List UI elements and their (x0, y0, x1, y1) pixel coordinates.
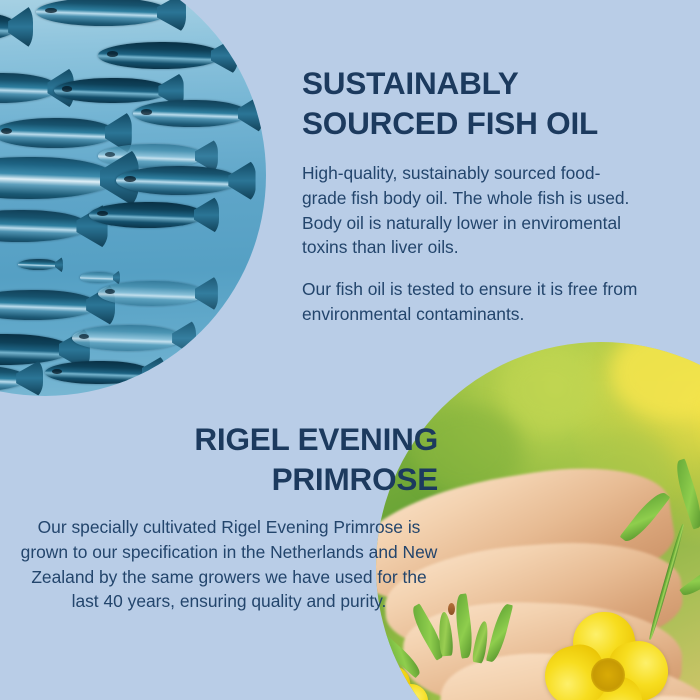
fish-oil-paragraph-1: High-quality, sustainably sourced food-g… (302, 161, 640, 260)
fish-shape (0, 118, 116, 148)
evening-primrose-text-block: RIGEL EVENINGPRIMROSE Our specially cult… (20, 420, 438, 614)
evening-primrose-flower (543, 612, 675, 700)
fish-shape (98, 281, 204, 306)
fish-shape-small (80, 272, 115, 283)
fish-shape (45, 361, 151, 385)
fish-shape (54, 78, 169, 104)
plant-leaf (679, 556, 700, 601)
fish-oil-headline-line-1: SUSTAINABLY (302, 65, 519, 101)
fish-shape (89, 202, 204, 229)
fish-shape (72, 325, 183, 351)
fish-shape (116, 166, 240, 195)
flower-center (591, 658, 625, 692)
flower-bud-tip (448, 603, 455, 615)
fish-oil-paragraph-2: Our fish oil is tested to ensure it is f… (302, 277, 640, 326)
school-of-fish-photo (0, 0, 266, 396)
evening-primrose-headline: RIGEL EVENINGPRIMROSE (20, 420, 438, 499)
bokeh-blob (502, 351, 592, 429)
evening-primrose-paragraph-1: Our specially cultivated Rigel Evening P… (20, 515, 438, 614)
evening-primrose-flower-small (376, 666, 430, 700)
evening-primrose-headline-line-1: RIGEL EVENING (194, 421, 438, 457)
fish-shape (98, 42, 222, 69)
bokeh-blob (610, 342, 700, 420)
fish-oil-headline-line-2: SOURCED FISH OIL (302, 105, 598, 141)
fish-oil-text-block: SUSTAINABLYSOURCED FISH OIL High-quality… (302, 64, 640, 327)
evening-primrose-headline-line-2: PRIMROSE (272, 461, 438, 497)
plant-leaf (672, 459, 700, 530)
product-ingredient-infographic: SUSTAINABLYSOURCED FISH OIL High-quality… (0, 0, 700, 700)
fish-oil-headline: SUSTAINABLYSOURCED FISH OIL (302, 64, 640, 143)
fish-shape (133, 100, 248, 127)
